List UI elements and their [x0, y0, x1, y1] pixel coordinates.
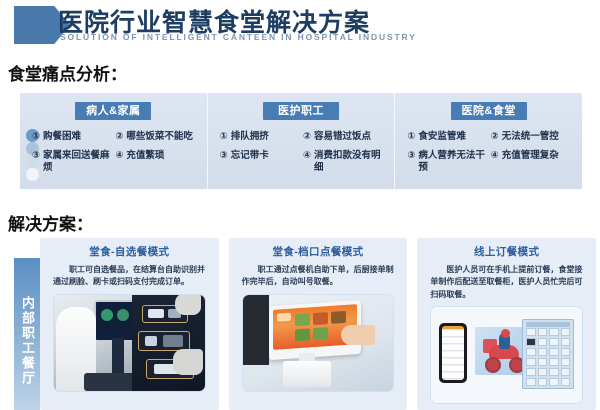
pain-item: ④ 充值管理复杂 [491, 150, 570, 174]
pain-item-number: ① [32, 131, 40, 143]
pain-item-label: 哪些饭菜不能吃 [126, 131, 193, 143]
pain-column-header: 医护职工 [263, 102, 339, 120]
pain-item-number: ② [491, 131, 499, 143]
pickup-locker-icon [522, 319, 574, 389]
pain-item: ④ 充值繁琐 [115, 150, 194, 174]
pain-column-staff: 医护职工 ① 排队拥挤 ② 容易错过饭点 ③ 忘记带卡 ④ 消费扣款没有明细 [207, 93, 395, 189]
pain-item: ④ 消费扣款没有明细 [303, 150, 382, 174]
pain-item: ① 排队拥挤 [220, 131, 299, 143]
online-order-locker-photo [430, 306, 583, 404]
pain-column-header: 病人&家属 [75, 102, 151, 120]
solution-cards: 堂食-自选餐模式 职工可自选餐品，在结算台自助识别并通过刷脸、刷卡或扫码支付完成… [40, 238, 596, 410]
pain-item-number: ③ [220, 150, 228, 162]
pain-column-header: 医院&食堂 [451, 102, 527, 120]
pain-item-label: 忘记带卡 [231, 150, 269, 162]
pain-item: ① 食安监管难 [407, 131, 486, 143]
pain-item-label: 充值繁琐 [126, 150, 164, 162]
pain-item: ③ 忘记带卡 [220, 150, 299, 174]
pain-item-label: 无法统一管控 [502, 131, 559, 143]
side-label-internal-staff-canteen: 内部职工餐厅 [14, 258, 40, 410]
pain-item-number: ④ [115, 150, 123, 162]
pain-item-label: 消费扣款没有明细 [314, 150, 382, 174]
ordering-terminal-photo [242, 294, 395, 392]
pain-item-number: ④ [303, 150, 311, 162]
pain-item: ② 哪些饭菜不能吃 [115, 131, 194, 143]
pain-item: ③ 病人营养无法干预 [407, 150, 486, 174]
pain-item-label: 病人营养无法干预 [418, 150, 486, 174]
pain-item-label: 家属来回送餐麻烦 [43, 150, 111, 174]
solution-card-online-ordering[interactable]: 线上订餐模式 医护人员可在手机上提前订餐，食堂接单制作后配送至取餐柜，医护人员忙… [417, 238, 596, 410]
pain-item-number: ② [303, 131, 311, 143]
pain-item-label: 购餐困难 [43, 131, 81, 143]
pain-item-number: ② [115, 131, 123, 143]
pain-item: ③ 家属来回送餐麻烦 [32, 150, 111, 174]
pain-item: ② 容易错过饭点 [303, 131, 382, 143]
phone-icon [439, 323, 467, 383]
solution-card-title: 堂食-档口点餐模式 [236, 244, 401, 259]
pain-item-number: ③ [407, 150, 415, 162]
solution-card-stall-ordering[interactable]: 堂食-档口点餐模式 职工通过点餐机自助下单，后厨接单制作完毕后，自动叫号取餐。 [229, 238, 408, 410]
pain-item-label: 充值管理复杂 [502, 150, 559, 162]
page-header: 医院行业智慧食堂解决方案 SOLUTION OF INTELLIGENT CAN… [0, 0, 600, 52]
pain-item-number: ① [407, 131, 415, 143]
pain-item-number: ① [220, 131, 228, 143]
pain-points-panel: 病人&家属 ① 购餐困难 ② 哪些饭菜不能吃 ③ 家属来回送餐麻烦 ④ 充值繁琐… [20, 93, 582, 189]
page-subtitle: SOLUTION OF INTELLIGENT CANTEEN IN HOSPI… [60, 32, 417, 42]
pain-item-label: 容易错过饭点 [314, 131, 371, 143]
solution-section-title: 解决方案： [8, 210, 93, 235]
solution-card-title: 线上订餐模式 [424, 244, 589, 259]
pain-item-number: ④ [491, 150, 499, 162]
solution-card-description: 职工可自选餐品，在结算台自助识别并通过刷脸、刷卡或扫码支付完成订单。 [47, 264, 212, 289]
pain-column-patients: 病人&家属 ① 购餐困难 ② 哪些饭菜不能吃 ③ 家属来回送餐麻烦 ④ 充值繁琐 [20, 93, 207, 189]
solution-card-description: 医护人员可在手机上提前订餐，食堂接单制作后配送至取餐柜，医护人员忙完后可扫码取餐… [424, 264, 589, 301]
pain-item-label: 食安监管难 [418, 131, 466, 143]
pain-item: ① 购餐困难 [32, 131, 111, 143]
pain-item: ② 无法统一管控 [491, 131, 570, 143]
solution-card-description: 职工通过点餐机自助下单，后厨接单制作完毕后，自动叫号取餐。 [236, 264, 401, 289]
pain-column-hospital: 医院&食堂 ① 食安监管难 ② 无法统一管控 ③ 病人营养无法干预 ④ 充值管理… [394, 93, 582, 189]
pain-item-label: 排队拥挤 [231, 131, 269, 143]
pain-section-title: 食堂痛点分析： [8, 60, 127, 85]
self-service-checkout-photo [53, 294, 206, 392]
solution-card-self-select[interactable]: 堂食-自选餐模式 职工可自选餐品，在结算台自助识别并通过刷脸、刷卡或扫码支付完成… [40, 238, 219, 410]
pain-item-number: ③ [32, 150, 40, 162]
solution-card-title: 堂食-自选餐模式 [47, 244, 212, 259]
